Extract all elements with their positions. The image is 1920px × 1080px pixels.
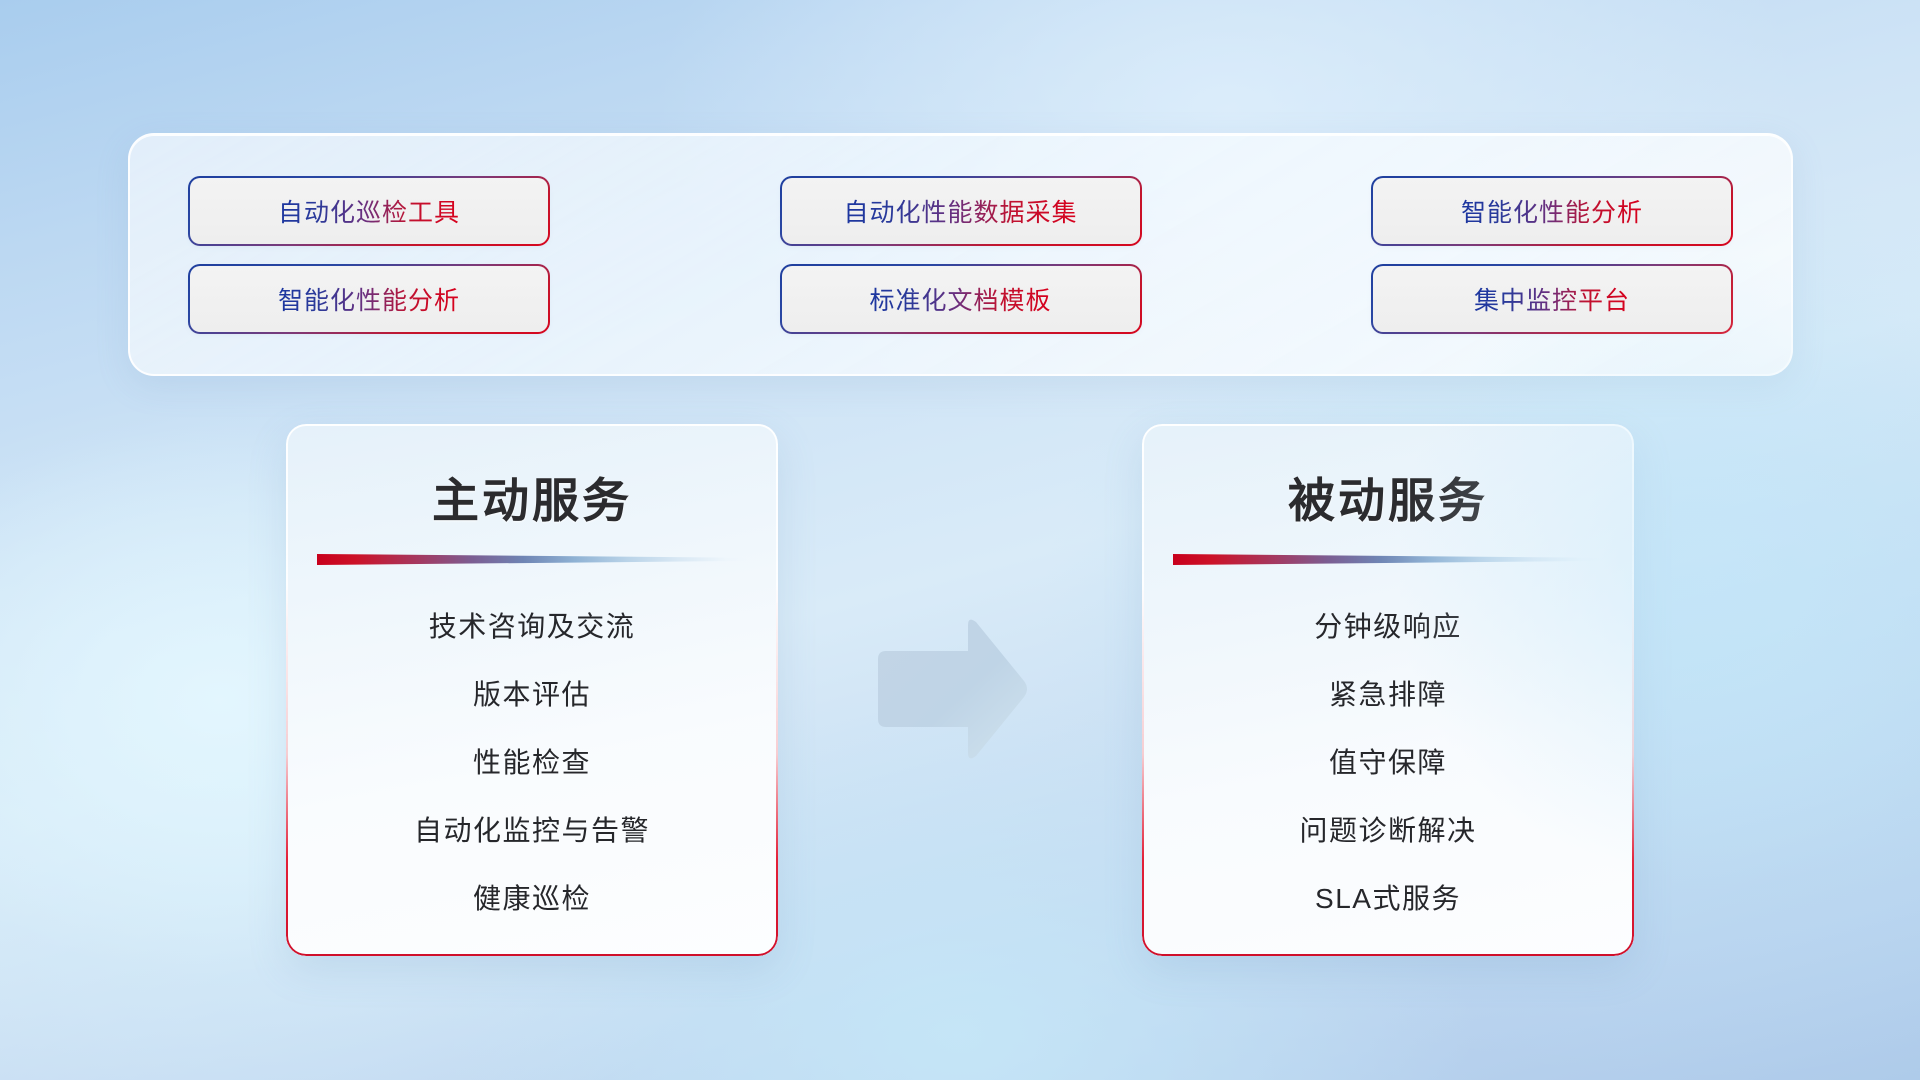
capability-pill-label: 自动化巡检工具 — [278, 193, 460, 229]
service-card-proactive: 主动服务 技术咨询及交流 版本评估 性能检查 自动化监控与告警 健康巡检 — [286, 424, 778, 956]
capability-row-2: 智能化性能分析 标准化文档模板 集中监控平台 — [190, 266, 1731, 332]
card-item-list: 分钟级响应 紧急排障 值守保障 问题诊断解决 SLA式服务 — [1142, 605, 1634, 917]
right-arrow-icon — [872, 615, 1032, 765]
card-divider — [317, 553, 747, 565]
capability-pill-label: 智能化性能分析 — [1461, 193, 1643, 229]
capability-pill-intelligent-performance-analysis-1[interactable]: 智能化性能分析 — [1373, 178, 1731, 244]
capability-pill-label: 智能化性能分析 — [278, 281, 460, 317]
card-item-list: 技术咨询及交流 版本评估 性能检查 自动化监控与告警 健康巡检 — [286, 605, 778, 917]
card-divider-taper — [317, 553, 747, 565]
capability-pill-automated-inspection-tool[interactable]: 自动化巡检工具 — [190, 178, 548, 244]
flow-arrow — [872, 615, 1032, 765]
list-item: 紧急排障 — [1329, 673, 1447, 713]
capability-pill-label: 自动化性能数据采集 — [843, 193, 1077, 229]
list-item: 版本评估 — [473, 673, 591, 713]
card-title: 主动服务 — [432, 462, 632, 531]
capability-pill-automated-performance-data-collection[interactable]: 自动化性能数据采集 — [782, 178, 1140, 244]
capability-pill-label: 标准化文档模板 — [869, 281, 1051, 317]
slide-canvas: 自动化巡检工具 自动化性能数据采集 智能化性能分析 智能化性能分析 标准化文档模… — [0, 0, 1920, 1080]
capability-pill-intelligent-performance-analysis-2[interactable]: 智能化性能分析 — [190, 266, 548, 332]
card-divider-taper — [1173, 553, 1603, 565]
list-item: 健康巡检 — [473, 877, 591, 917]
list-item: SLA式服务 — [1315, 877, 1461, 917]
list-item: 性能检查 — [473, 741, 591, 781]
capability-pill-standardized-doc-template[interactable]: 标准化文档模板 — [782, 266, 1140, 332]
card-divider — [1173, 553, 1603, 565]
list-item: 分钟级响应 — [1314, 605, 1462, 645]
capability-pill-centralized-monitoring-platform[interactable]: 集中监控平台 — [1373, 266, 1731, 332]
capability-row-1: 自动化巡检工具 自动化性能数据采集 智能化性能分析 — [190, 178, 1731, 244]
capability-panel: 自动化巡检工具 自动化性能数据采集 智能化性能分析 智能化性能分析 标准化文档模… — [128, 133, 1793, 376]
list-item: 技术咨询及交流 — [429, 605, 636, 645]
capability-pill-label: 集中监控平台 — [1474, 281, 1630, 317]
list-item: 自动化监控与告警 — [414, 809, 650, 849]
service-card-reactive: 被动服务 分钟级响应 紧急排障 值守保障 问题诊断解决 SLA式服务 — [1142, 424, 1634, 956]
card-title: 被动服务 — [1288, 462, 1488, 531]
list-item: 问题诊断解决 — [1299, 809, 1476, 849]
list-item: 值守保障 — [1329, 741, 1447, 781]
